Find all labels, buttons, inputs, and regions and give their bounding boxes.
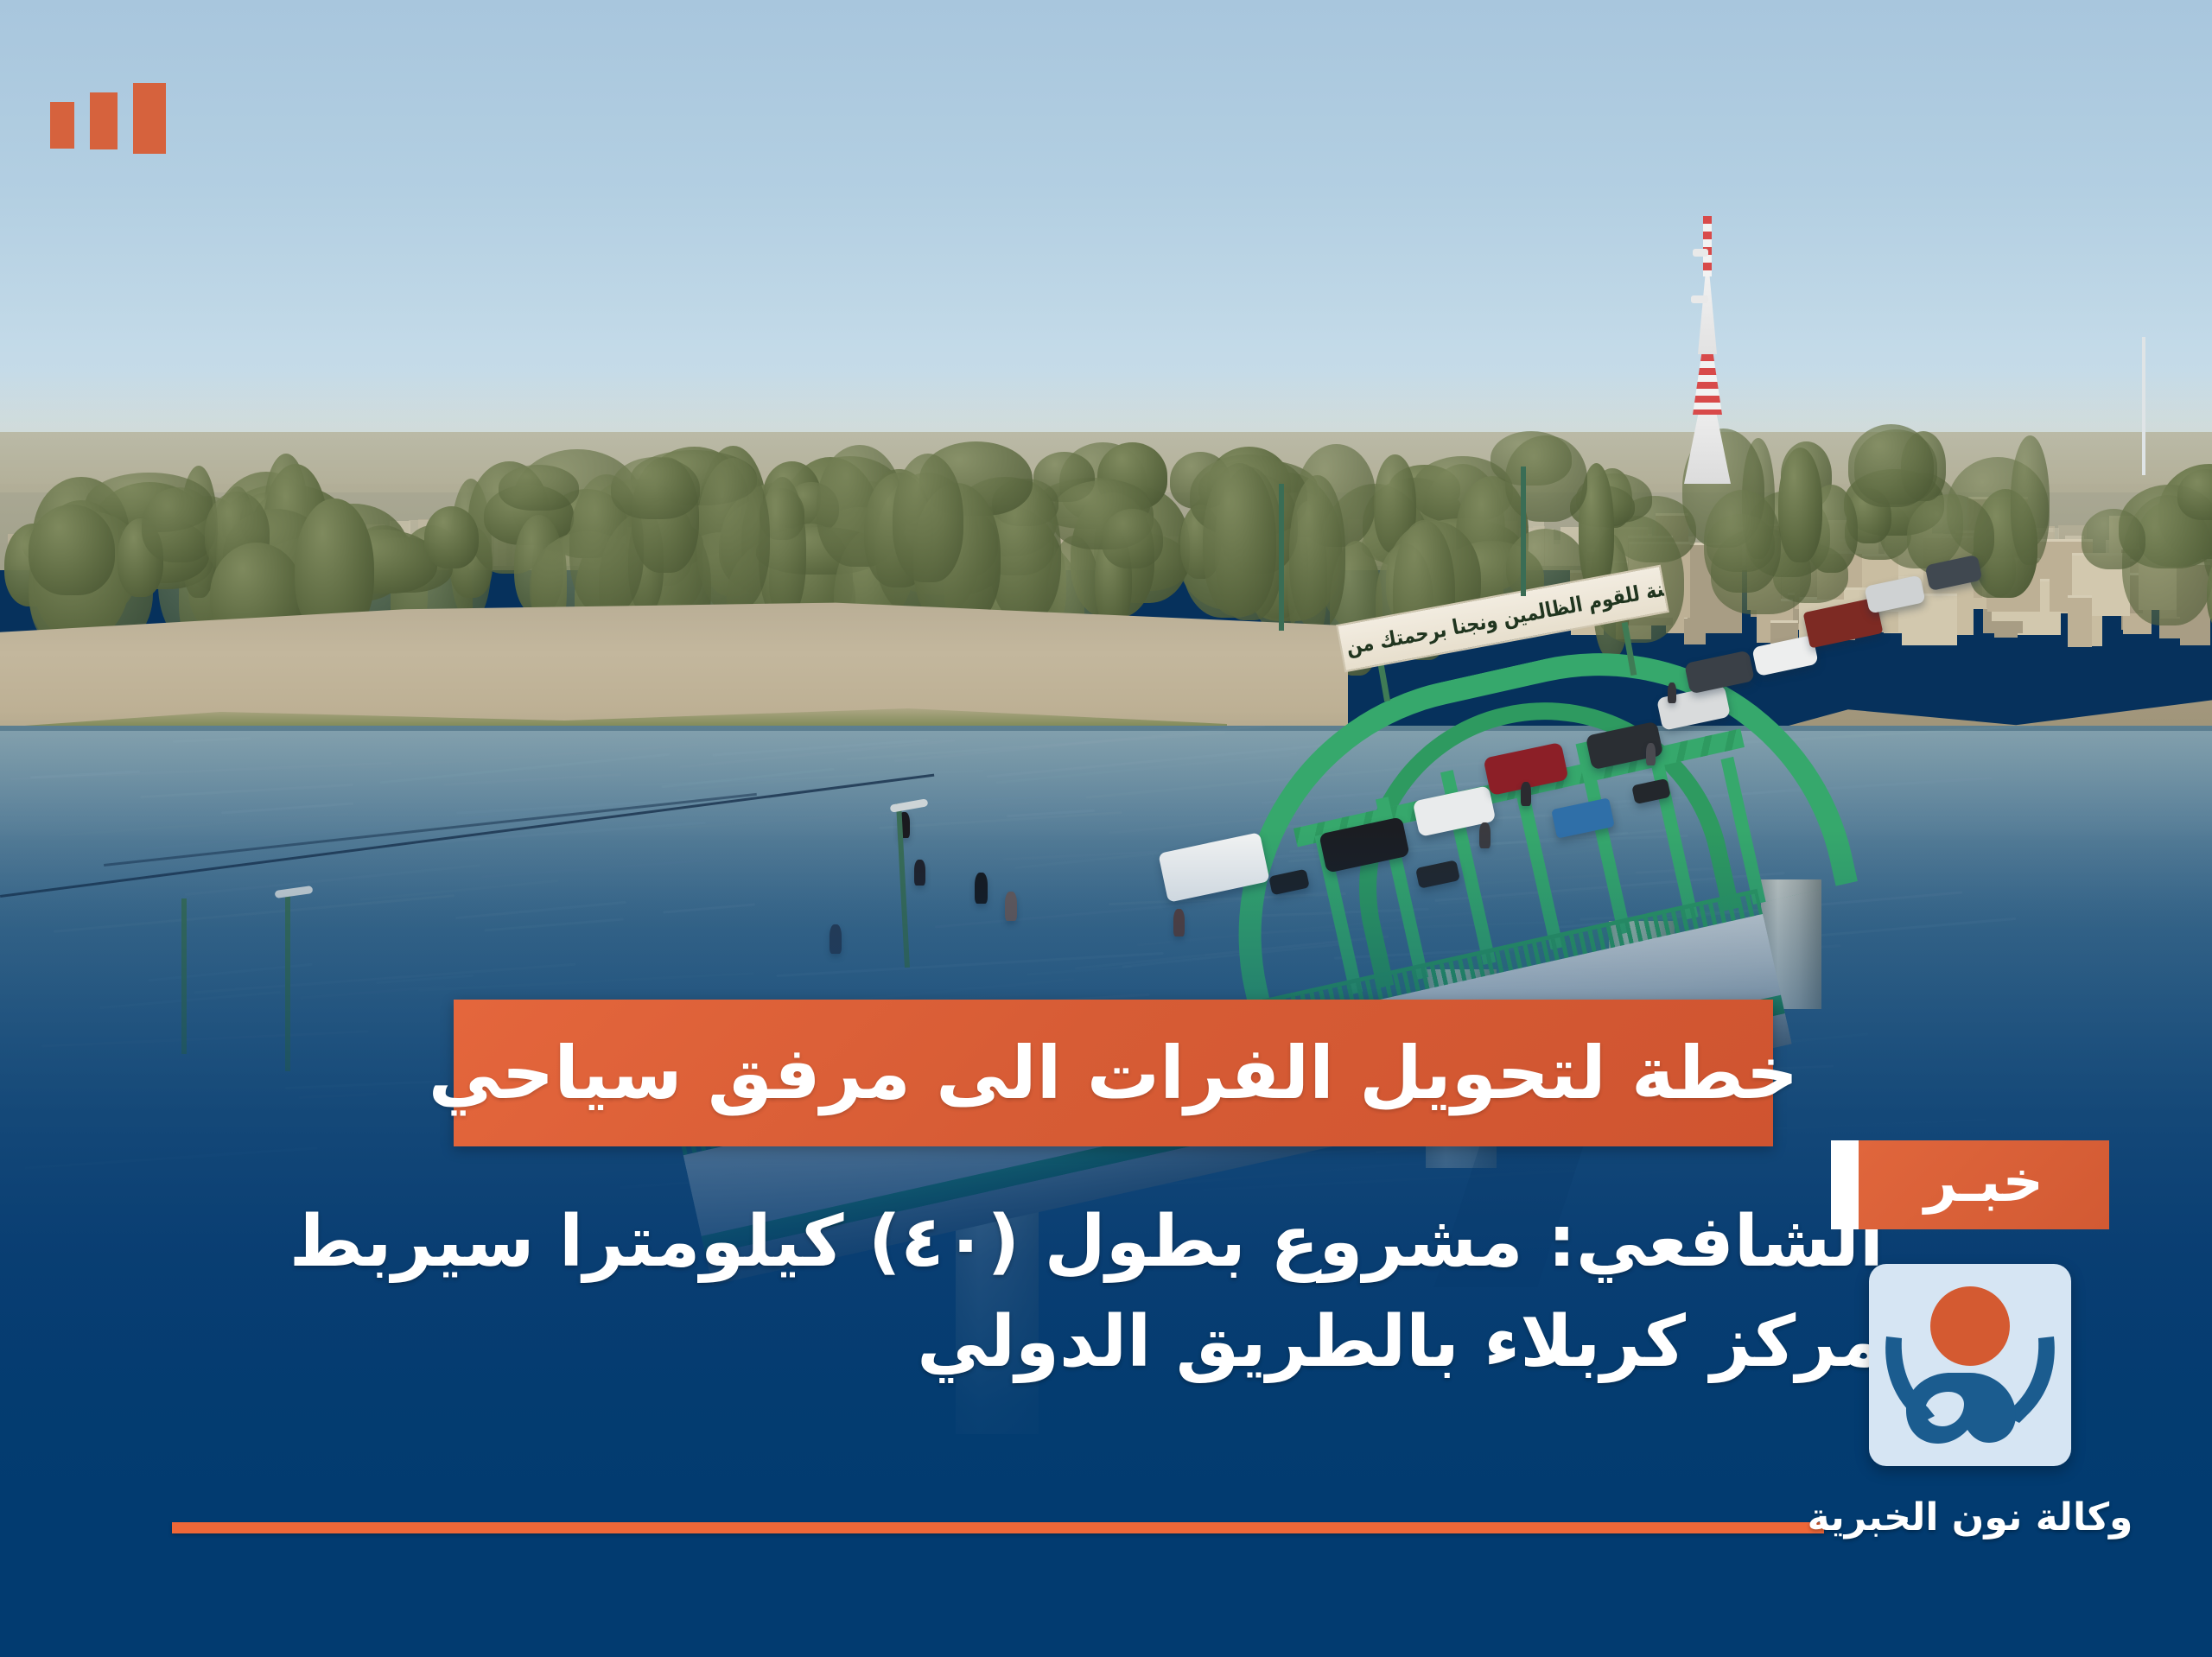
- street-lamp: [1521, 467, 1526, 596]
- subheadline-block: الشافعي: مشروع بطول (٤٠) كيلومترا سيربط …: [242, 1192, 1884, 1394]
- news-badge-white-tab: [1831, 1140, 1859, 1229]
- agency-name: وكالة نون الخبرية: [1808, 1495, 2133, 1540]
- headline-text: خطة لتحويل الفرات الى مرفق سياحي: [429, 1037, 1799, 1109]
- pedestrian: [1646, 743, 1656, 765]
- brand-bar-1: [133, 83, 166, 154]
- logo-noon-glyph: [1869, 1264, 2071, 1466]
- car-vehicle: [1864, 575, 1925, 613]
- brand-bar-3: [50, 102, 74, 149]
- subheadline-line-1: الشافعي: مشروع بطول (٤٠) كيلومترا سيربط: [242, 1192, 1884, 1292]
- headline-banner: خطة لتحويل الفرات الى مرفق سياحي: [454, 1000, 1773, 1146]
- street-lamp: [1279, 484, 1284, 631]
- brand-mark-icon: [50, 83, 166, 154]
- pedestrian: [1521, 782, 1531, 806]
- noon-logo-icon: [1869, 1264, 2071, 1466]
- brand-block: خبـر وكالة نون الخبرية: [1780, 1140, 2160, 1540]
- street-lamp-head: [890, 798, 929, 813]
- news-badge-fill: خبـر: [1859, 1140, 2109, 1229]
- news-badge: خبـر: [1831, 1140, 2109, 1229]
- news-card: ربنا لا تجعلنا فتنة للقوم الظالمين ونجنا…: [0, 0, 2212, 1657]
- pedestrian: [1668, 682, 1676, 703]
- subheadline-line-2: مركز كربلاء بالطريق الدولي: [242, 1292, 1884, 1393]
- car-vehicle: [1925, 555, 1983, 591]
- news-badge-label: خبـر: [1924, 1153, 2044, 1210]
- brand-bar-2: [90, 92, 118, 149]
- orange-divider: [172, 1522, 1824, 1533]
